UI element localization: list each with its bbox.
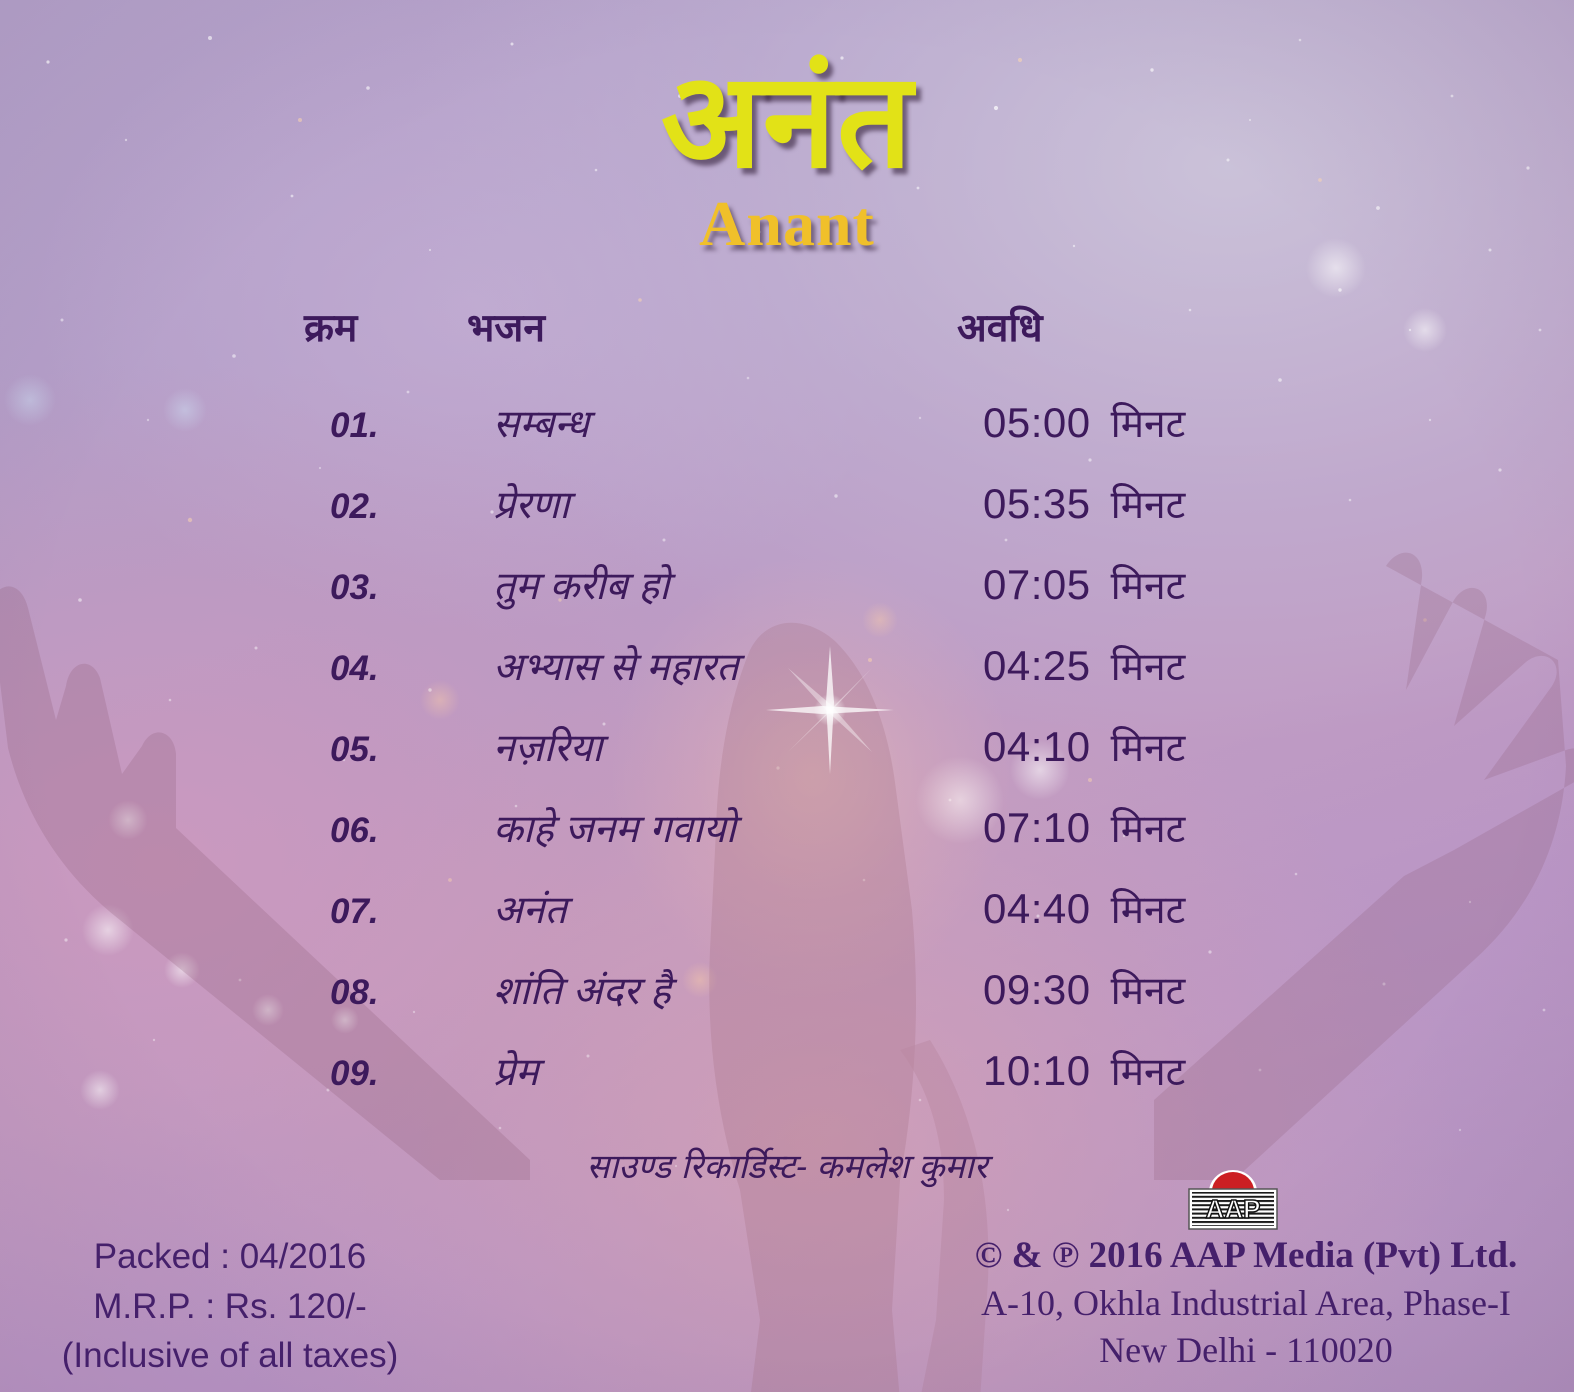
album-back-cover: अनंत Anant क्रम भजन अवधि 01. सम्बन्ध 05:… (0, 0, 1574, 1392)
publisher-info: © & ℗ 2016 AAP Media (Pvt) Ltd. A-10, Ok… (946, 1232, 1546, 1374)
column-header-duration: अवधि (957, 300, 1212, 353)
track-title: अनंत (485, 882, 983, 935)
track-number: 08. (300, 973, 485, 1013)
sound-recordist-credit: साउण्ड रिकार्डिस्ट- कमलेश कुमार (0, 1142, 1574, 1188)
track-title: नज़रिया (485, 720, 983, 773)
track-title: काहे जनम गवायो (485, 801, 983, 854)
packed-date: Packed : 04/2016 (20, 1232, 440, 1282)
tracklist-header-row: क्रम भजन अवधि (300, 300, 1200, 396)
table-row: 02. प्रेरणा 05:35 मिनट (300, 477, 1200, 558)
table-row: 01. सम्बन्ध 05:00 मिनट (300, 396, 1200, 477)
table-row: 06. काहे जनम गवायो 07:10 मिनट (300, 801, 1200, 882)
track-title: अभ्यास से महारत (485, 639, 983, 692)
track-duration-time: 07:05 (983, 561, 1091, 609)
copyright-line: © & ℗ 2016 AAP Media (Pvt) Ltd. (946, 1232, 1546, 1280)
track-duration: 04:10 मिनट (983, 720, 1238, 773)
column-header-number: क्रम (300, 300, 459, 353)
track-duration: 05:35 मिनट (983, 477, 1238, 530)
track-duration-time: 07:10 (983, 804, 1091, 852)
track-title: प्रेरणा (485, 477, 983, 530)
track-number: 04. (300, 649, 485, 689)
track-duration-time: 04:10 (983, 723, 1091, 771)
track-duration-time: 05:00 (983, 399, 1091, 447)
track-duration-unit: मिनट (1111, 639, 1186, 692)
track-number: 09. (300, 1054, 485, 1094)
track-duration-unit: मिनट (1111, 396, 1186, 449)
track-number: 06. (300, 811, 485, 851)
track-duration-time: 09:30 (983, 966, 1091, 1014)
track-duration: 07:05 मिनट (983, 558, 1238, 611)
track-duration: 04:40 मिनट (983, 882, 1238, 935)
track-duration-unit: मिनट (1111, 1044, 1186, 1097)
album-title-block: अनंत Anant (0, 52, 1574, 261)
track-duration-unit: मिनट (1111, 477, 1186, 530)
tracklist-table: क्रम भजन अवधि 01. सम्बन्ध 05:00 मिनट 02.… (300, 300, 1200, 1125)
track-title: तुम करीब हो (485, 558, 983, 611)
track-duration-time: 10:10 (983, 1047, 1091, 1095)
track-number: 03. (300, 568, 485, 608)
table-row: 03. तुम करीब हो 07:05 मिनट (300, 558, 1200, 639)
track-duration: 09:30 मिनट (983, 963, 1238, 1016)
track-number: 05. (300, 730, 485, 770)
track-number: 02. (300, 487, 485, 527)
track-number: 01. (300, 406, 485, 446)
track-duration-time: 04:25 (983, 642, 1091, 690)
track-title: शांति अंदर है (485, 963, 983, 1016)
aap-media-logo-icon: AAP (1183, 1158, 1283, 1236)
tax-inclusive: (Inclusive of all taxes) (20, 1331, 440, 1381)
table-row: 07. अनंत 04:40 मिनट (300, 882, 1200, 963)
album-title-latin: Anant (0, 187, 1574, 261)
track-duration: 04:25 मिनट (983, 639, 1238, 692)
track-duration-unit: मिनट (1111, 963, 1186, 1016)
track-title: सम्बन्ध (485, 396, 983, 449)
address-line-2: New Delhi - 110020 (946, 1327, 1546, 1374)
track-number: 07. (300, 892, 485, 932)
track-duration: 05:00 मिनट (983, 396, 1238, 449)
table-row: 05. नज़रिया 04:10 मिनट (300, 720, 1200, 801)
track-duration: 10:10 मिनट (983, 1044, 1238, 1097)
packaging-info: Packed : 04/2016 M.R.P. : Rs. 120/- (Inc… (20, 1232, 440, 1381)
track-duration-unit: मिनट (1111, 882, 1186, 935)
track-duration-unit: मिनट (1111, 720, 1186, 773)
table-row: 04. अभ्यास से महारत 04:25 मिनट (300, 639, 1200, 720)
track-title: प्रेम (485, 1044, 983, 1097)
aap-logo-text: AAP (1206, 1194, 1261, 1224)
table-row: 09. प्रेम 10:10 मिनट (300, 1044, 1200, 1125)
column-header-title: भजन (459, 300, 957, 353)
album-title-hindi: अनंत (0, 52, 1574, 191)
track-duration-time: 05:35 (983, 480, 1091, 528)
table-row: 08. शांति अंदर है 09:30 मिनट (300, 963, 1200, 1044)
track-duration-unit: मिनट (1111, 801, 1186, 854)
track-duration-time: 04:40 (983, 885, 1091, 933)
mrp-price: M.R.P. : Rs. 120/- (20, 1282, 440, 1332)
track-duration: 07:10 मिनट (983, 801, 1238, 854)
track-duration-unit: मिनट (1111, 558, 1186, 611)
address-line-1: A-10, Okhla Industrial Area, Phase-I (946, 1280, 1546, 1327)
